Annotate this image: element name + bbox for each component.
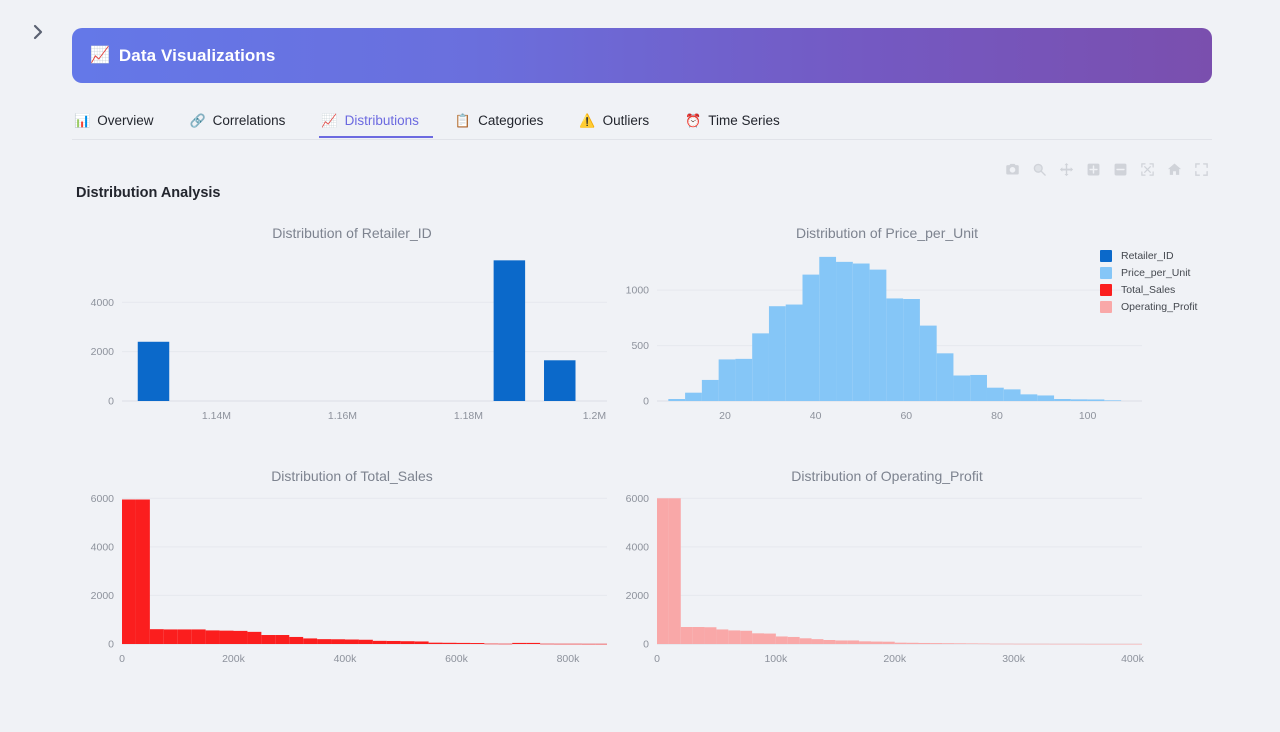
histogram-bar [275, 635, 289, 644]
histogram-bar [415, 641, 429, 644]
tab-outliers[interactable]: ⚠️Outliers [577, 105, 663, 138]
histogram-bar [716, 629, 728, 644]
y-tick-label: 6000 [626, 493, 650, 505]
histogram-bar [1104, 400, 1121, 401]
legend-item-operating_profit[interactable]: Operating_Profit [1100, 301, 1197, 313]
histogram-bar [150, 629, 164, 644]
histogram-bar [819, 257, 836, 401]
x-tick-label: 1.14M [202, 410, 231, 422]
plot-canvas: 02000400060000100k200k300k400k [607, 456, 1167, 686]
tab-label: Time Series [708, 113, 780, 128]
legend-item-total_sales[interactable]: Total_Sales [1100, 284, 1197, 296]
x-tick-label: 800k [557, 653, 581, 665]
page-header-banner: 📈 Data Visualizations [72, 28, 1212, 83]
chart-title: Distribution of Retailer_ID [72, 225, 632, 241]
histogram-bar [303, 638, 317, 644]
zoom-icon[interactable] [1030, 160, 1048, 178]
sidebar-expand-button[interactable] [26, 20, 50, 44]
histogram-bar [247, 632, 261, 644]
chart-title: Distribution of Total_Sales [72, 468, 632, 484]
pan-icon[interactable] [1057, 160, 1075, 178]
histogram-bar [359, 640, 373, 644]
histogram-bar [769, 306, 786, 401]
x-tick-label: 1.18M [454, 410, 483, 422]
histogram-bar [596, 644, 607, 645]
autoscale-icon[interactable] [1138, 160, 1156, 178]
x-tick-label: 1.16M [328, 410, 357, 422]
bar-chart-icon: 📊 [74, 114, 90, 127]
clipboard-icon: 📋 [455, 114, 471, 127]
histogram-bar [871, 642, 883, 644]
tab-bar: 📊Overview🔗Correlations📈Distributions📋Cat… [72, 105, 1212, 140]
histogram-bar [261, 635, 275, 644]
x-tick-label: 40 [810, 410, 822, 422]
histogram-bar [345, 640, 359, 644]
x-tick-label: 400k [1121, 653, 1145, 665]
histogram-bar [668, 399, 685, 401]
x-tick-label: 100 [1079, 410, 1097, 422]
histogram-bar [582, 644, 596, 645]
histogram-bar [907, 643, 919, 644]
data-visualizations-app: 📈 Data Visualizations 📊Overview🔗Correlat… [0, 0, 1280, 732]
histogram-bar [937, 353, 954, 401]
y-tick-label: 0 [108, 396, 114, 408]
chart-legend: Retailer_IDPrice_per_UnitTotal_SalesOper… [1100, 250, 1197, 313]
y-tick-label: 1000 [626, 285, 650, 297]
histogram-bar [693, 627, 705, 644]
legend-swatch-icon [1100, 267, 1112, 279]
y-tick-label: 0 [643, 639, 649, 651]
x-tick-label: 300k [1002, 653, 1026, 665]
reset-axes-icon[interactable] [1165, 160, 1183, 178]
histogram-bar [494, 260, 525, 401]
histogram-bar [800, 638, 812, 644]
x-tick-label: 200k [883, 653, 907, 665]
histogram-bar [702, 380, 719, 401]
histogram-bar [786, 305, 803, 401]
histogram-bar [1021, 394, 1038, 401]
plot-canvas: 0200040001.14M1.16M1.18M1.2M [72, 213, 632, 443]
histogram-bar [317, 639, 331, 644]
histogram-bar [122, 500, 136, 645]
plot-canvas: 0500100020406080100 [607, 213, 1167, 443]
histogram-bar [443, 643, 457, 644]
y-tick-label: 6000 [91, 493, 115, 505]
histogram-bar [289, 637, 303, 644]
y-tick-label: 2000 [91, 346, 115, 358]
histogram-bar [953, 376, 970, 402]
x-tick-label: 600k [445, 653, 469, 665]
histogram-bar [685, 393, 702, 401]
y-tick-label: 0 [108, 639, 114, 651]
chart-increasing-icon: 📈 [321, 114, 337, 127]
tab-correlations[interactable]: 🔗Correlations [187, 105, 299, 138]
histogram-bar [498, 644, 512, 645]
histogram-bar [903, 299, 920, 401]
legend-label: Retailer_ID [1121, 250, 1174, 262]
histogram-bar [1049, 644, 1085, 645]
histogram-bar [835, 640, 847, 644]
chart-title: Distribution of Price_per_Unit [607, 225, 1167, 241]
x-tick-label: 0 [119, 653, 125, 665]
legend-label: Total_Sales [1121, 284, 1175, 296]
fullscreen-icon[interactable] [1192, 160, 1210, 178]
zoom-out-icon[interactable] [1111, 160, 1129, 178]
tab-label: Categories [478, 113, 543, 128]
plot-modebar [1003, 160, 1210, 178]
histogram-bar [752, 633, 764, 644]
histogram-bar [987, 388, 1004, 401]
tab-time-series[interactable]: ⏰Time Series [683, 105, 794, 138]
x-tick-label: 100k [764, 653, 788, 665]
histogram-bar [970, 375, 987, 401]
histogram-bar [233, 631, 247, 644]
histogram-bar [401, 641, 415, 644]
tab-label: Overview [97, 113, 153, 128]
y-tick-label: 2000 [626, 590, 650, 602]
histogram-bar [470, 643, 484, 644]
legend-item-retailer_id[interactable]: Retailer_ID [1100, 250, 1197, 262]
histogram-bar [895, 643, 907, 644]
histogram-bar [669, 498, 681, 644]
download-plot-icon[interactable] [1003, 160, 1021, 178]
tab-overview[interactable]: 📊Overview [72, 105, 167, 138]
histogram-bar [812, 639, 824, 644]
legend-swatch-icon [1100, 284, 1112, 296]
legend-swatch-icon [1100, 301, 1112, 313]
zoom-in-icon[interactable] [1084, 160, 1102, 178]
histogram-bar [919, 643, 931, 644]
histogram-bar [705, 627, 717, 644]
tab-categories[interactable]: 📋Categories [453, 105, 557, 138]
y-tick-label: 4000 [91, 297, 115, 309]
histogram-bar [136, 500, 150, 645]
chart-increasing-icon: 📈 [90, 48, 110, 64]
tab-distributions[interactable]: 📈Distributions [319, 105, 432, 138]
x-tick-label: 0 [654, 653, 660, 665]
histogram-bar [1037, 395, 1054, 401]
legend-label: Price_per_Unit [1121, 267, 1190, 279]
histogram-bar [373, 641, 387, 644]
histogram-bar [568, 644, 582, 645]
chart-operating_profit[interactable]: Distribution of Operating_Profit02000400… [607, 456, 1167, 686]
histogram-bar [990, 644, 1014, 645]
histogram-bar [1085, 644, 1142, 645]
histogram-bar [512, 643, 526, 644]
x-tick-label: 20 [719, 410, 731, 422]
section-title: Distribution Analysis [76, 185, 220, 201]
histogram-bar [164, 629, 178, 644]
tab-label: Distributions [345, 113, 419, 128]
alarm-clock-icon: ⏰ [685, 114, 701, 127]
histogram-bar [387, 641, 401, 644]
chart-grid: Distribution of Retailer_ID0200040001.14… [72, 213, 1212, 673]
plot-canvas: 02000400060000200k400k600k800k [72, 456, 632, 686]
y-tick-label: 0 [643, 396, 649, 408]
x-tick-label: 60 [900, 410, 912, 422]
x-tick-label: 200k [222, 653, 246, 665]
x-tick-label: 80 [991, 410, 1003, 422]
histogram-bar [978, 644, 990, 645]
chart-retailer_id[interactable]: Distribution of Retailer_ID0200040001.14… [72, 213, 632, 443]
x-tick-label: 1.2M [583, 410, 606, 422]
x-tick-label: 400k [334, 653, 358, 665]
histogram-bar [681, 627, 693, 644]
histogram-bar [752, 333, 769, 401]
chart-price_per_unit[interactable]: Distribution of Price_per_Unit0500100020… [607, 213, 1167, 443]
histogram-bar [331, 639, 345, 644]
histogram-bar [526, 643, 540, 644]
histogram-bar [138, 342, 169, 401]
histogram-bar [1071, 399, 1088, 401]
histogram-bar [740, 631, 752, 644]
legend-item-price_per_unit[interactable]: Price_per_Unit [1100, 267, 1197, 279]
histogram-bar [220, 631, 234, 644]
histogram-bar [853, 264, 870, 401]
tab-label: Outliers [603, 113, 650, 128]
warning-icon: ⚠️ [579, 114, 595, 127]
histogram-bar [1088, 399, 1105, 401]
chevron-right-icon [31, 23, 45, 41]
histogram-bar [735, 359, 752, 401]
histogram-bar [870, 270, 887, 401]
legend-swatch-icon [1100, 250, 1112, 262]
histogram-bar [886, 298, 903, 401]
histogram-bar [456, 643, 470, 644]
histogram-bar [788, 637, 800, 644]
histogram-bar [540, 644, 554, 645]
histogram-bar [803, 275, 820, 401]
histogram-bar [206, 630, 220, 644]
histogram-bar [1004, 389, 1021, 401]
histogram-bar [859, 641, 871, 644]
histogram-bar [966, 643, 978, 644]
y-tick-label: 4000 [91, 541, 115, 553]
tab-label: Correlations [213, 113, 286, 128]
histogram-bar [883, 642, 895, 644]
histogram-bar [920, 326, 937, 401]
histogram-bar [942, 643, 954, 644]
link-icon: 🔗 [189, 114, 205, 127]
histogram-bar [1054, 399, 1071, 401]
histogram-bar [484, 644, 498, 645]
histogram-bar [930, 643, 942, 644]
y-tick-label: 500 [631, 340, 649, 352]
histogram-bar [544, 360, 575, 401]
histogram-bar [178, 629, 192, 644]
histogram-bar [764, 634, 776, 644]
y-tick-label: 4000 [626, 541, 650, 553]
histogram-bar [1014, 644, 1050, 645]
chart-title: Distribution of Operating_Profit [607, 468, 1167, 484]
histogram-bar [192, 629, 206, 644]
histogram-bar [954, 643, 966, 644]
histogram-bar [429, 643, 443, 644]
legend-label: Operating_Profit [1121, 301, 1197, 313]
page-title: Data Visualizations [119, 46, 276, 66]
histogram-bar [836, 262, 853, 401]
histogram-bar [776, 636, 788, 644]
y-tick-label: 2000 [91, 590, 115, 602]
histogram-bar [728, 630, 740, 644]
histogram-bar [719, 359, 736, 401]
histogram-bar [554, 644, 568, 645]
histogram-bar [657, 498, 669, 644]
chart-total_sales[interactable]: Distribution of Total_Sales0200040006000… [72, 456, 632, 686]
histogram-bar [847, 640, 859, 644]
histogram-bar [823, 640, 835, 644]
